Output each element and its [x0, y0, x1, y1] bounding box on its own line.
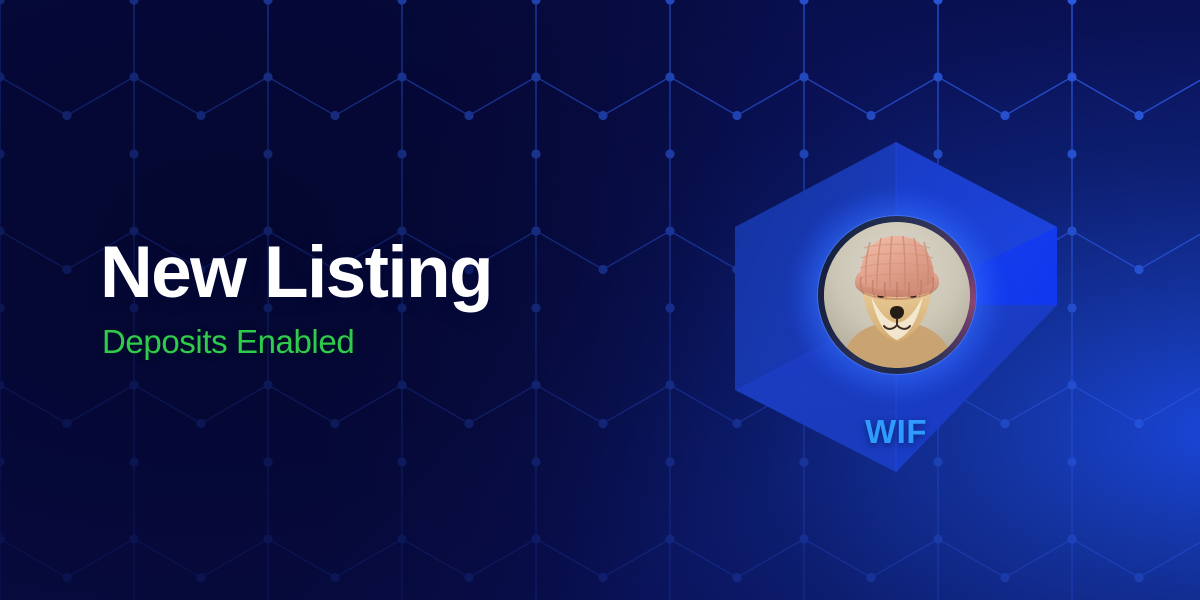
- headline-block: New Listing Deposits Enabled: [100, 236, 492, 358]
- coin-face: [824, 222, 970, 368]
- new-listing-banner: WIF New Listing Deposits Enabled: [0, 0, 1200, 600]
- asset-ticker-label: WIF: [735, 413, 1057, 451]
- dogwifhat-coin-icon: [818, 216, 976, 374]
- page-title: New Listing: [100, 236, 492, 309]
- status-subtitle: Deposits Enabled: [102, 325, 492, 358]
